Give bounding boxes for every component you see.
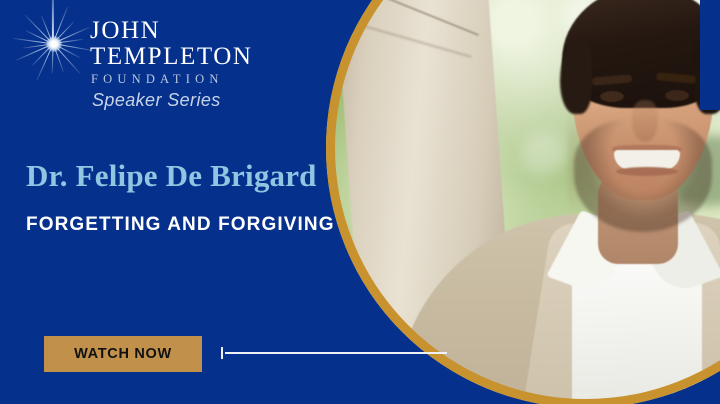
watch-now-button[interactable]: WATCH NOW xyxy=(44,336,202,372)
starburst-core xyxy=(46,36,62,52)
logo-line-john: JOHN xyxy=(90,18,160,43)
talk-title: FORGETTING AND FORGIVING xyxy=(26,214,335,236)
eye-right xyxy=(665,90,689,101)
eye-left xyxy=(600,91,624,102)
speaker-portrait-figure xyxy=(422,0,720,404)
nose xyxy=(632,100,658,142)
lower-lip xyxy=(616,167,678,176)
ring-edge-mask xyxy=(700,0,720,110)
rule-bar xyxy=(225,352,447,354)
speaker-series-tagline: Speaker Series xyxy=(92,90,221,111)
foundation-logo: JOHN TEMPLETON FOUNDATION Speaker Series xyxy=(14,8,230,112)
hair-side-left xyxy=(560,42,592,114)
rule-tick xyxy=(221,347,223,359)
logo-line-foundation: FOUNDATION xyxy=(91,72,224,87)
speaker-photo xyxy=(326,0,720,404)
decorative-rule xyxy=(221,345,447,361)
speaker-series-promo-card: JOHN TEMPLETON FOUNDATION Speaker Series… xyxy=(0,0,720,404)
logo-line-templeton: TEMPLETON xyxy=(90,44,253,69)
speaker-name: Dr. Felipe De Brigard xyxy=(26,158,317,194)
starburst-icon xyxy=(20,10,88,78)
